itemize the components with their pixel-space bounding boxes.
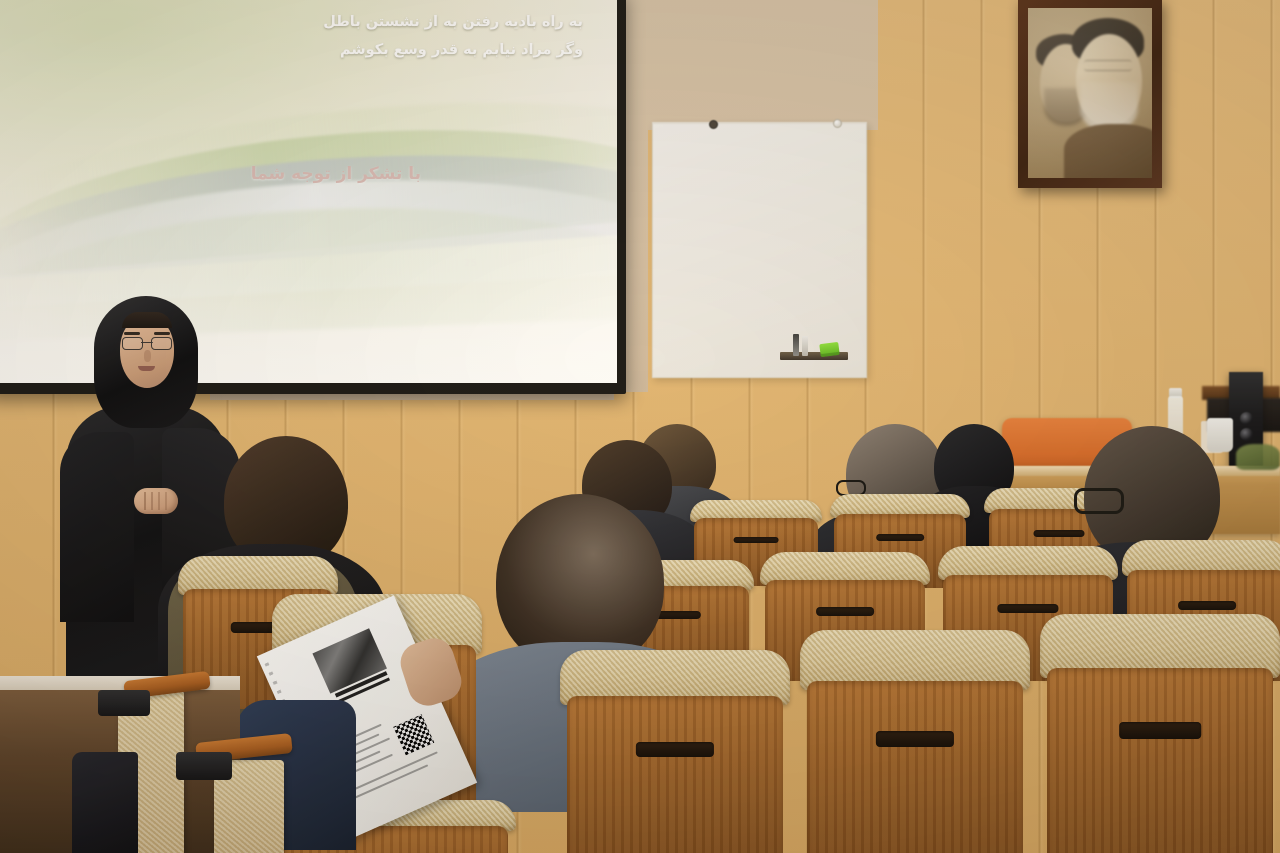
presenter-shoulder-left [60,432,134,622]
seat-back-panel [807,681,1023,853]
framed-portrait [1018,0,1162,188]
portrait-glasses-icon [1084,60,1132,71]
whiteboard [652,122,867,378]
marker-black [793,334,799,356]
presenter-hair [122,312,172,328]
slide-thanks-text: با تشکر از توجه شما [251,164,421,184]
portrait-beard-front [1080,82,1138,132]
speaker-driver-bottom [1240,428,1253,441]
conference-hall-photo: به راه بادیه رفتن به از نشستن باطل وگر م… [0,0,1280,853]
portrait-turban-front [1072,18,1144,64]
presenter-eyebrow-left [124,332,140,335]
presenter-mouth [138,366,155,371]
marker-white [802,336,808,356]
seat-front-right-b [800,630,1030,853]
seat-back-panel [1047,668,1273,853]
seat-front-right-c [1040,614,1280,853]
foreground-dark-seat [72,752,138,853]
armrest-pad-left [98,690,150,716]
glasses-icon [1074,488,1124,514]
portrait-face-back [1040,44,1092,122]
whiteboard-mount-right [833,119,842,128]
presenter-glasses-icon [122,337,172,349]
presenter-eyebrow-right [154,332,170,335]
portrait-face-front [1076,34,1142,126]
presenter-nose [144,350,151,362]
slide-verse-text: به راه بادیه رفتن به از نشستن باطل وگر م… [63,8,583,65]
seat-back-panel [567,696,783,853]
portrait-figures [1028,8,1152,178]
seat-handle-slot [1119,722,1201,739]
seat-handle-slot [734,537,779,543]
seat-handle-slot [876,731,954,747]
seat-handle-slot [636,742,714,757]
armrest-pad-left-2 [176,752,232,780]
slide-wave-accent-1 [0,102,617,281]
seat-handle-slot [997,604,1058,613]
slide-verse-line-2: وگر مراد نیابم به قدر وسع بکوشم [63,36,583,64]
portrait-turban-back [1036,34,1092,70]
whiteboard-eraser [819,342,839,357]
portrait-image [1028,8,1152,178]
seat-handle-slot [1178,601,1236,611]
slide-wave-accent-5 [0,72,617,232]
seat-handle-slot [876,534,924,540]
potted-plant [1236,444,1280,470]
slide-wave-accent-2 [0,132,617,281]
portrait-robe [1064,124,1152,178]
speaker-driver-top [1240,412,1253,425]
portrait-beard-back [1044,88,1088,126]
seat-handle-slot [816,607,874,616]
whiteboard-mount-left [709,120,718,129]
flyer-qr-code [393,714,434,755]
slide-verse-line-1: به راه بادیه رفتن به از نشستن باطل [63,8,583,36]
presenter-clasped-hands [134,488,178,514]
seat-front-right-a [560,650,790,853]
slide-page-number: 25 [464,258,477,269]
